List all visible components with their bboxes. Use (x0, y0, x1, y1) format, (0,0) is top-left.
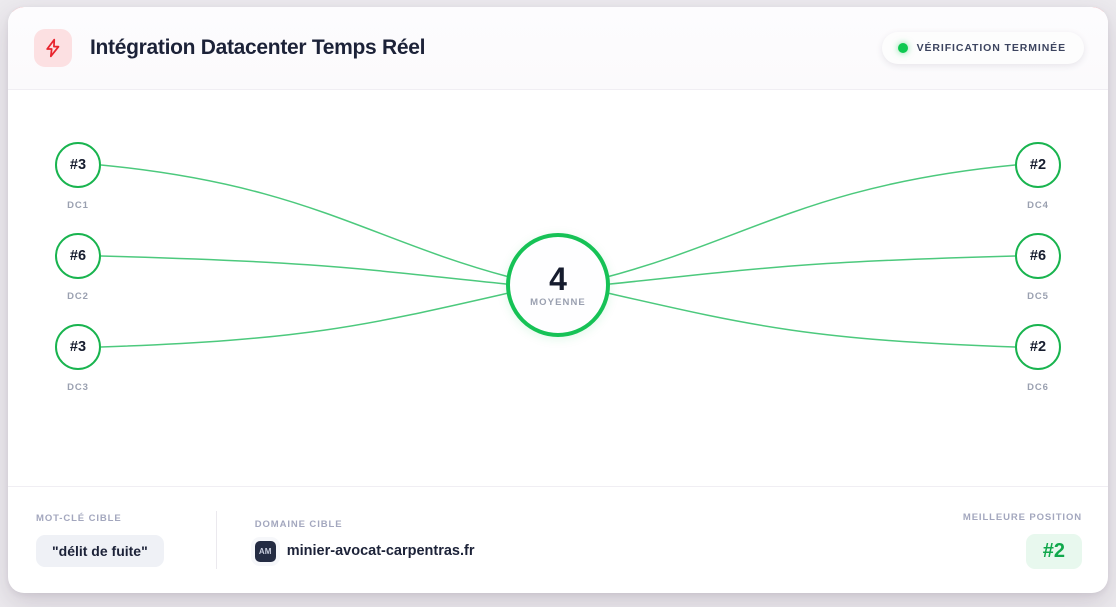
node-dc4-value: #2 (1030, 157, 1046, 173)
link-dc6 (603, 292, 1015, 347)
status-badge[interactable]: VÉRIFICATION TERMINÉE (882, 32, 1084, 64)
node-dc5-label: DC5 (1027, 291, 1049, 302)
link-dc3 (101, 292, 513, 347)
node-dc4-label: DC4 (1027, 200, 1049, 211)
favicon-icon: AM (255, 541, 276, 562)
lightning-bolt-icon (34, 29, 72, 67)
node-dc6-label: DC6 (1027, 382, 1049, 393)
card-header: Intégration Datacenter Temps Réel VÉRIFI… (8, 7, 1108, 90)
keyword-caption: MOT-CLÉ CIBLE (36, 513, 164, 524)
datacenter-graph: #3 DC1 #6 DC2 #3 DC3 #2 DC4 #6 DC5 #2 DC… (8, 90, 1108, 486)
node-dc3-label: DC3 (67, 382, 89, 393)
node-dc3[interactable]: #3 (55, 324, 101, 370)
node-dc1[interactable]: #3 (55, 142, 101, 188)
node-dc3-value: #3 (70, 339, 86, 355)
card-footer: MOT-CLÉ CIBLE "délit de fuite" DOMAINE C… (8, 486, 1108, 593)
page-background: Intégration Datacenter Temps Réel VÉRIFI… (0, 0, 1116, 607)
node-dc2[interactable]: #6 (55, 233, 101, 279)
page-title: Intégration Datacenter Temps Réel (90, 36, 425, 60)
node-dc2-label: DC2 (67, 291, 89, 302)
link-dc4 (603, 165, 1015, 278)
status-badge-label: VÉRIFICATION TERMINÉE (917, 42, 1066, 54)
link-dc5 (610, 256, 1015, 284)
best-position-value: #2 (1026, 534, 1082, 569)
node-dc5[interactable]: #6 (1015, 233, 1061, 279)
node-dc2-value: #6 (70, 248, 86, 264)
node-dc1-value: #3 (70, 157, 86, 173)
node-dc5-value: #6 (1030, 248, 1046, 264)
node-dc6[interactable]: #2 (1015, 324, 1061, 370)
domain-caption: DOMAINE CIBLE (255, 519, 475, 530)
best-position-section: MEILLEURE POSITION #2 (963, 512, 1082, 569)
domain-name: minier-avocat-carpentras.fr (287, 543, 475, 559)
domain-row[interactable]: AM minier-avocat-carpentras.fr (255, 541, 475, 562)
node-dc6-value: #2 (1030, 339, 1046, 355)
link-dc2 (101, 256, 506, 284)
hub-value: 4 (549, 263, 567, 295)
hub-label: MOYENNE (530, 297, 586, 308)
keyword-section: MOT-CLÉ CIBLE "délit de fuite" (36, 513, 164, 567)
report-card: Intégration Datacenter Temps Réel VÉRIFI… (8, 7, 1108, 593)
keyword-chip[interactable]: "délit de fuite" (36, 535, 164, 567)
domain-section: DOMAINE CIBLE AM minier-avocat-carpentra… (255, 519, 475, 562)
hub-node-average[interactable]: 4 MOYENNE (506, 233, 610, 337)
status-dot-icon (898, 43, 908, 53)
best-position-caption: MEILLEURE POSITION (963, 512, 1082, 523)
node-dc4[interactable]: #2 (1015, 142, 1061, 188)
footer-divider (216, 511, 217, 569)
link-dc1 (101, 165, 513, 278)
node-dc1-label: DC1 (67, 200, 89, 211)
